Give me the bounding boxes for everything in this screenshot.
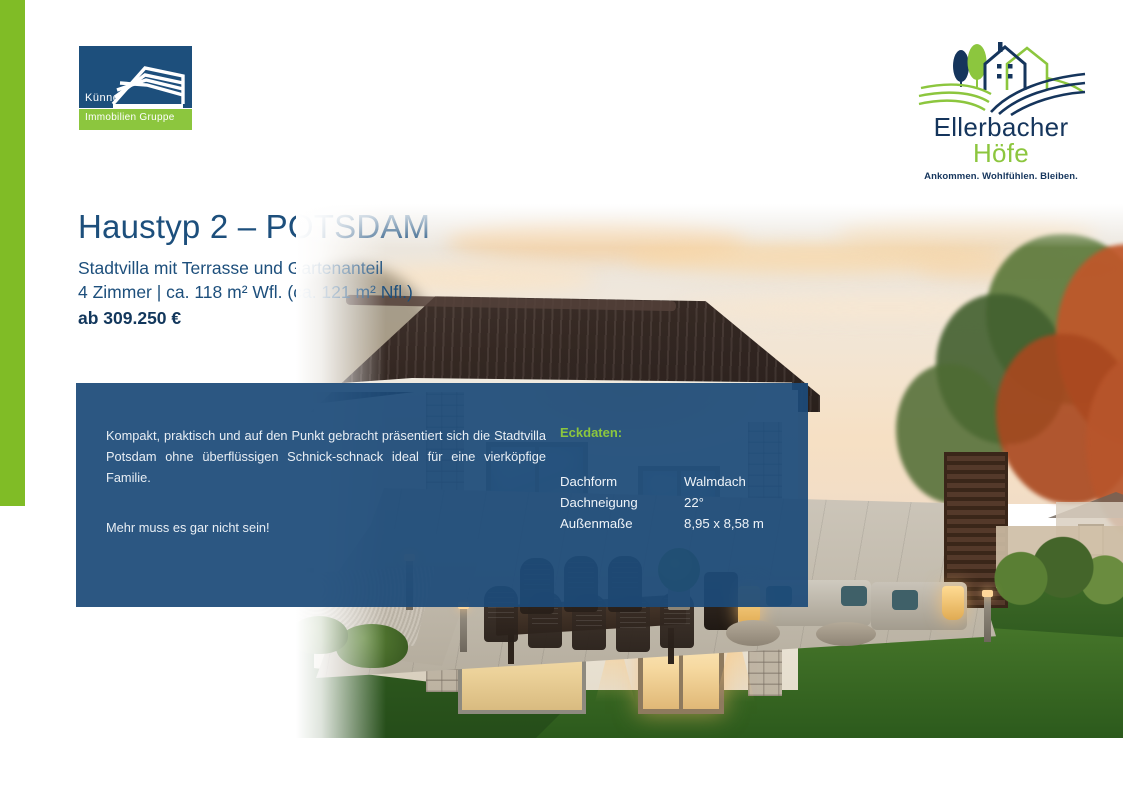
ellerbacher-hoefe-logo[interactable]: Ellerbacher Höfe Ankommen. Wohlfühlen. B… <box>915 38 1087 178</box>
key-fact-label: Außenmaße <box>560 513 684 534</box>
garden-bush <box>296 616 348 654</box>
kuenne-logo[interactable]: Künne Immobilien Gruppe <box>79 46 192 130</box>
key-facts-block: Eckdaten: Dachform Walmdach Dachneigung … <box>560 425 790 534</box>
kuenne-logo-name: Künne <box>85 92 119 104</box>
decorative-boulder <box>726 620 780 646</box>
kuenne-logo-subtitle: Immobilien Gruppe <box>85 112 175 123</box>
kuenne-logo-mark: Künne <box>79 46 192 108</box>
brochure-page: Künne Immobilien Gruppe <box>0 0 1123 794</box>
key-fact-value: 8,95 x 8,58 m <box>684 513 790 534</box>
info-panel-description: Kompakt, praktisch und auf den Punkt geb… <box>106 425 546 538</box>
cushion <box>841 586 867 606</box>
path-bollard-light <box>460 606 467 652</box>
key-fact-row: Außenmaße 8,95 x 8,58 m <box>560 513 790 534</box>
key-fact-value: Walmdach <box>684 471 790 492</box>
house-trees-fields-icon <box>915 38 1087 116</box>
key-facts-title: Eckdaten: <box>560 425 790 440</box>
page-title: Haustyp 2 – POTSDAM <box>78 208 430 246</box>
key-fact-label: Dachneigung <box>560 492 684 513</box>
key-fact-label: Dachform <box>560 471 684 492</box>
garden-lantern <box>942 586 964 620</box>
left-accent-bar <box>0 0 25 506</box>
shrub-row <box>986 534 1123 608</box>
subtitle-line-2: 4 Zimmer | ca. 118 m² Wfl. (ca. 121 m² N… <box>78 282 413 303</box>
path-bollard-light <box>984 594 991 642</box>
info-panel: Kompakt, praktisch und auf den Punkt geb… <box>76 383 808 607</box>
ellerbacher-logo-name-2: Höfe <box>915 140 1087 167</box>
ellerbacher-logo-name: Ellerbacher <box>915 114 1087 140</box>
price-label: ab 309.250 € <box>78 308 181 329</box>
subtitle-line-1: Stadtvilla mit Terrasse und Gartenanteil <box>78 258 383 279</box>
description-paragraph-2: Mehr muss es gar nicht sein! <box>106 517 546 538</box>
key-fact-row: Dachneigung 22° <box>560 492 790 513</box>
key-fact-row: Dachform Walmdach <box>560 471 790 492</box>
cushion <box>892 590 918 610</box>
decorative-boulder <box>816 622 876 646</box>
ellerbacher-logo-tagline: Ankommen. Wohlfühlen. Bleiben. <box>915 171 1087 182</box>
description-paragraph-1: Kompakt, praktisch und auf den Punkt geb… <box>106 425 546 488</box>
key-fact-value: 22° <box>684 492 790 513</box>
